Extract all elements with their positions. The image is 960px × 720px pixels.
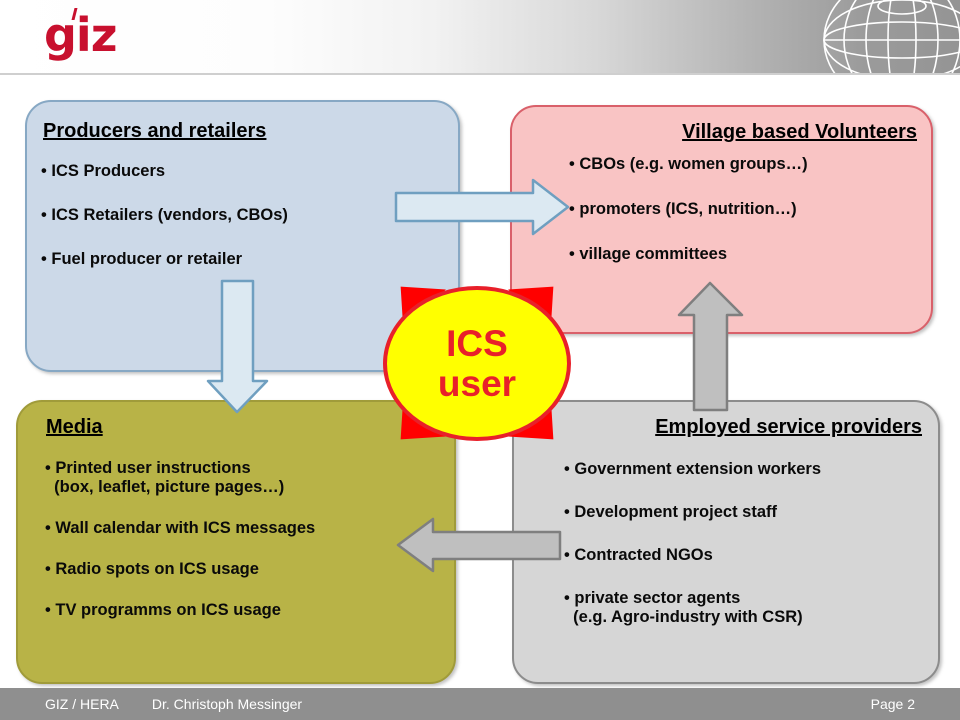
ics-user-line-2: user <box>438 364 516 404</box>
box-volunteers-bullets: • CBOs (e.g. women groups…) • promoters … <box>569 155 808 290</box>
globe-wireframe-icon <box>810 0 960 74</box>
list-item: • ICS Retailers (vendors, CBOs) <box>41 206 288 225</box>
list-item: • private sector agents (e.g. Agro-indus… <box>564 589 821 627</box>
box-providers-bullets: • Government extension workers • Develop… <box>564 460 821 651</box>
giz-logo-text: giz <box>44 8 116 62</box>
giz-logo: giz <box>44 10 116 60</box>
list-item: • Fuel producer or retailer <box>41 250 288 269</box>
slide-header: giz <box>0 0 960 74</box>
header-divider <box>0 73 960 75</box>
box-providers-title: Employed service providers <box>514 416 922 439</box>
list-item: • Government extension workers <box>564 460 821 479</box>
list-item: • Radio spots on ICS usage <box>45 560 315 579</box>
list-item: • CBOs (e.g. women groups…) <box>569 155 808 174</box>
list-item: • Wall calendar with ICS messages <box>45 519 315 538</box>
footer-page-number: Page 2 <box>871 696 915 712</box>
box-village-based-volunteers[interactable]: Village based Volunteers • CBOs (e.g. wo… <box>510 105 933 334</box>
footer-credit: GIZ / HERA Dr. Christoph Messinger <box>45 696 302 712</box>
box-media-bullets: • Printed user instructions (box, leafle… <box>45 459 315 642</box>
box-media-title: Media <box>46 416 103 439</box>
footer-org: GIZ / HERA <box>45 696 118 712</box>
list-item: • TV programms on ICS usage <box>45 601 315 620</box>
slide-footer: GIZ / HERA Dr. Christoph Messinger Page … <box>0 688 960 720</box>
list-item: • Development project staff <box>564 503 821 522</box>
footer-author: Dr. Christoph Messinger <box>152 696 302 712</box>
box-volunteers-title: Village based Volunteers <box>512 121 917 144</box>
box-producers-title: Producers and retailers <box>43 120 266 143</box>
ics-user-hub[interactable]: ICS user <box>383 286 571 441</box>
box-employed-service-providers[interactable]: Employed service providers • Government … <box>512 400 940 684</box>
list-item: • ICS Producers <box>41 162 288 181</box>
list-item: • Contracted NGOs <box>564 546 821 565</box>
ics-user-line-1: ICS <box>446 324 508 364</box>
list-item: • Printed user instructions (box, leafle… <box>45 459 315 497</box>
box-producers-bullets: • ICS Producers • ICS Retailers (vendors… <box>41 162 288 294</box>
list-item: • village committees <box>569 245 808 264</box>
box-media[interactable]: Media • Printed user instructions (box, … <box>16 400 456 684</box>
list-item: • promoters (ICS, nutrition…) <box>569 200 808 219</box>
